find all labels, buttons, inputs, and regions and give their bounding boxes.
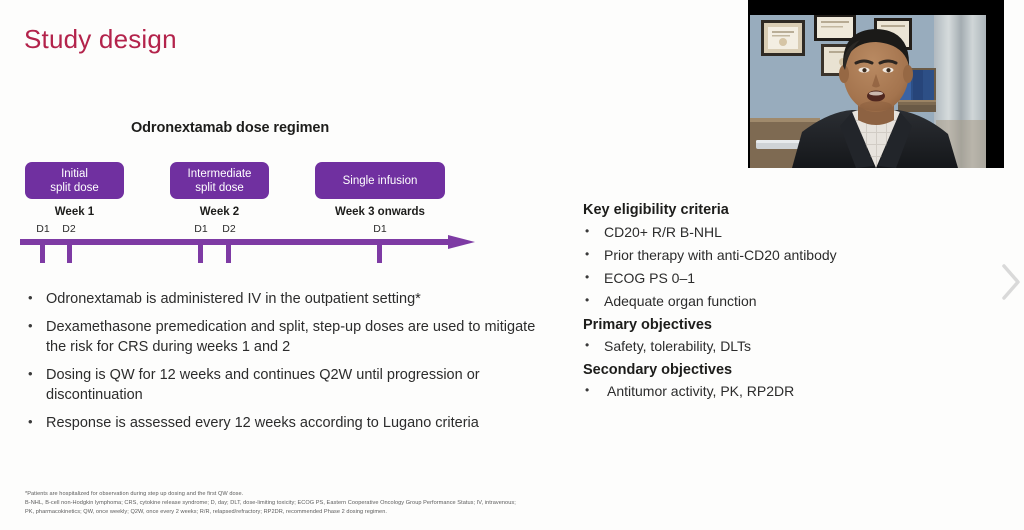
bullet-glyph: • [24, 413, 46, 431]
list-item-text: Dosing is QW for 12 weeks and continues … [46, 365, 546, 406]
bullet-glyph: • [24, 365, 46, 383]
list-item-text: Safety, tolerability, DLTs [604, 337, 1003, 355]
list-item: • Safety, tolerability, DLTs [583, 337, 1003, 355]
bullet-glyph: • [583, 382, 604, 398]
list-item-text: Odronextamab is administered IV in the o… [46, 289, 546, 310]
list-item: • Dexamethasone premedication and split,… [24, 317, 546, 358]
primary-objectives-group: Primary objectives • Safety, tolerabilit… [583, 316, 1003, 356]
list-item: • ECOG PS 0–1 [583, 269, 1003, 287]
main-bullet-list: • Odronextamab is administered IV in the… [24, 289, 546, 440]
right-column: Key eligibility criteria • CD20+ R/R B-N… [583, 201, 1003, 406]
list-item: • Dosing is QW for 12 weeks and continue… [24, 365, 546, 406]
secondary-objectives-group: Secondary objectives • Antitumor activit… [583, 361, 1003, 401]
week-label-1: Week 1 [25, 206, 124, 218]
bullet-glyph: • [583, 292, 604, 308]
bullet-glyph: • [583, 269, 604, 285]
presenter-video-tile[interactable] [748, 0, 1004, 168]
phase-label-line1: Single infusion [343, 174, 418, 188]
list-item: • Antitumor activity, PK, RP2DR [583, 382, 1003, 400]
list-item: • Adequate organ function [583, 292, 1003, 310]
list-item: • CD20+ R/R B-NHL [583, 223, 1003, 241]
list-item: • Odronextamab is administered IV in the… [24, 289, 546, 310]
bullet-glyph: • [583, 223, 604, 239]
week-label-2: Week 2 [170, 206, 269, 218]
list-item-text: ECOG PS 0–1 [604, 269, 1003, 287]
eligibility-group: Key eligibility criteria • CD20+ R/R B-N… [583, 201, 1003, 311]
bullet-glyph: • [24, 317, 46, 335]
diagram-heading: Odronextamab dose regimen [131, 120, 329, 136]
phase-box-intermediate: Intermediate split dose [170, 162, 269, 199]
secondary-objectives-heading: Secondary objectives [583, 361, 1003, 380]
list-item-text: Adequate organ function [604, 292, 1003, 310]
week-label-3: Week 3 onwards [315, 206, 445, 218]
bullet-glyph: • [583, 337, 604, 353]
list-item: • Prior therapy with anti-CD20 antibody [583, 246, 1003, 264]
phase-label-line1: Initial [50, 167, 99, 181]
phase-label-line2: split dose [188, 181, 252, 195]
phase-box-initial: Initial split dose [25, 162, 124, 199]
footnote-line-1: *Patients are hospitalized for observati… [25, 490, 1005, 499]
list-item-text: CD20+ R/R B-NHL [604, 223, 1003, 241]
footnote-line-2: B-NHL, B-cell non-Hodgkin lymphoma; CRS,… [25, 499, 1005, 508]
chevron-right-icon[interactable] [998, 258, 1022, 306]
list-item-text: Dexamethasone premedication and split, s… [46, 317, 546, 358]
phase-label-line1: Intermediate [188, 167, 252, 181]
phase-label-line2: split dose [50, 181, 99, 195]
footnote-line-3: PK, pharmacokinetics; QW, once weekly; Q… [25, 508, 1005, 517]
list-item-text: Antitumor activity, PK, RP2DR [604, 382, 1003, 400]
bullet-glyph: • [24, 289, 46, 307]
list-item-text: Response is assessed every 12 weeks acco… [46, 413, 546, 434]
timeline-axis-arrow [20, 232, 475, 270]
footnote-block: *Patients are hospitalized for observati… [25, 490, 1005, 518]
list-item: • Response is assessed every 12 weeks ac… [24, 413, 546, 434]
page-title: Study design [24, 26, 177, 52]
list-item-text: Prior therapy with anti-CD20 antibody [604, 246, 1003, 264]
bullet-glyph: • [583, 246, 604, 262]
eligibility-heading: Key eligibility criteria [583, 201, 1003, 220]
phase-box-single-infusion: Single infusion [315, 162, 445, 199]
presenter-webcam-image [748, 0, 1004, 168]
primary-objectives-heading: Primary objectives [583, 316, 1003, 335]
